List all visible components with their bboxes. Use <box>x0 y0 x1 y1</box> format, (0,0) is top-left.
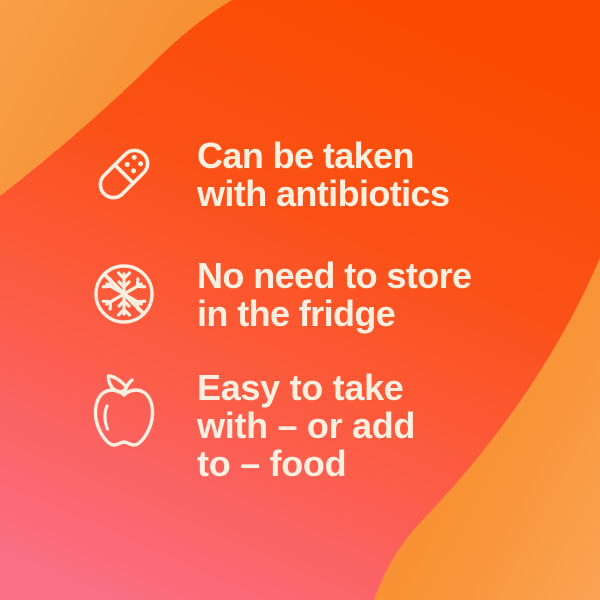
benefits-list: Can be taken with antibiotics <box>0 0 600 600</box>
benefit-line: in the fridge <box>197 295 471 333</box>
benefit-row-2: No need to store in the fridge <box>88 256 471 340</box>
benefit-row-1: Can be taken with antibiotics <box>88 136 449 220</box>
benefits-card: Can be taken with antibiotics <box>0 0 600 600</box>
benefit-text-2: No need to store in the fridge <box>197 256 471 333</box>
benefit-text-1: Can be taken with antibiotics <box>197 136 449 213</box>
benefit-line: Can be taken <box>197 137 449 175</box>
no-fridge-snowflake-icon <box>88 256 166 340</box>
benefit-text-3: Easy to take with – or add to – food <box>197 368 415 483</box>
apple-icon <box>88 368 166 452</box>
bandage-icon <box>88 136 166 220</box>
benefit-line: with antibiotics <box>197 175 449 213</box>
benefit-line: with – or add <box>197 407 415 445</box>
benefit-line: to – food <box>197 445 415 483</box>
benefit-line: No need to store <box>197 257 471 295</box>
benefit-line: Easy to take <box>197 369 415 407</box>
benefit-row-3: Easy to take with – or add to – food <box>88 368 415 483</box>
